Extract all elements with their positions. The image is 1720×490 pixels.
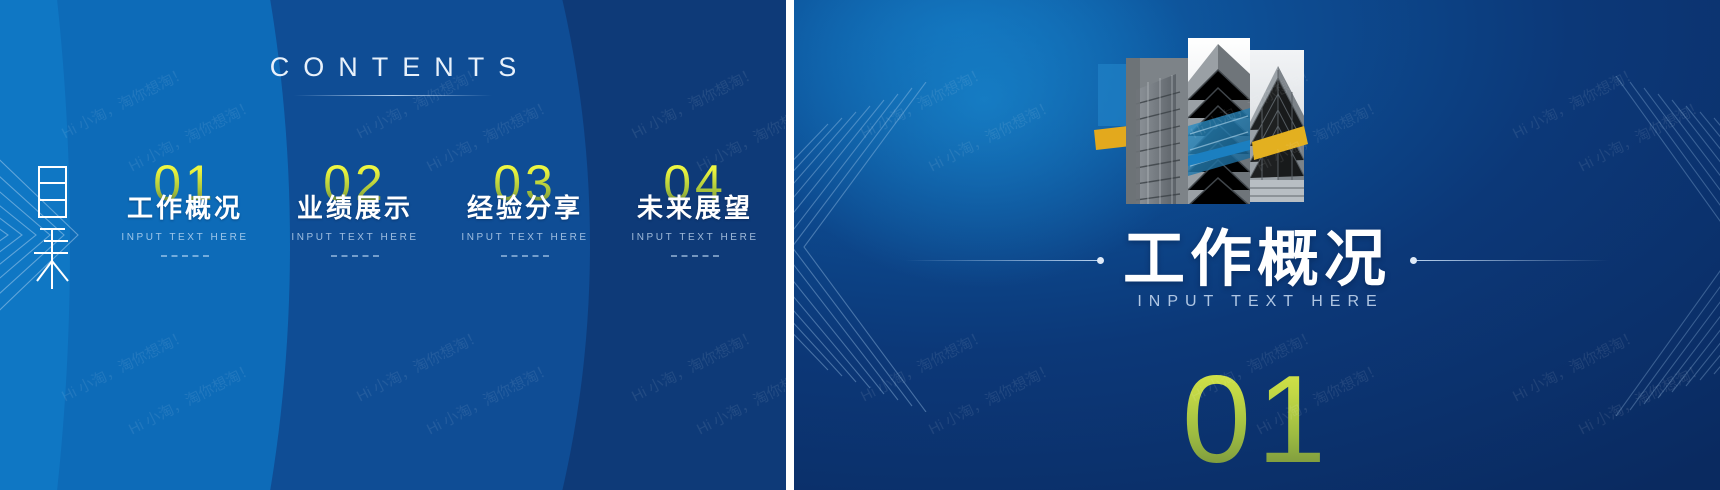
item-title: 业绩展示 (270, 188, 440, 225)
section-divider-slide: 工作概况 INPUT TEXT HERE 01 Hi 小淘，淘你想淘！Hi 小淘… (794, 0, 1720, 490)
item-dashed-rule (161, 255, 209, 257)
architecture-photo-collage (1090, 30, 1330, 212)
item-subtitle: INPUT TEXT HERE (270, 232, 440, 243)
title-rule-left (905, 260, 1101, 261)
list-item[interactable]: 04 未来展望 INPUT TEXT HERE (610, 160, 780, 257)
slide-pair-canvas: CONTENTS 01 工作概况 INPUT TEXT HERE 02 业绩展示… (0, 0, 1720, 490)
item-dashed-rule (501, 255, 549, 257)
item-title: 经验分享 (440, 188, 610, 225)
title-underline-rule (294, 95, 492, 96)
section-number: 01 (794, 358, 1720, 482)
page-title: CONTENTS (0, 52, 786, 83)
item-dashed-rule (671, 255, 719, 257)
item-title: 未来展望 (610, 188, 780, 225)
item-subtitle: INPUT TEXT HERE (100, 232, 270, 243)
item-subtitle: INPUT TEXT HERE (610, 232, 780, 243)
list-item[interactable]: 02 业绩展示 INPUT TEXT HERE (270, 160, 440, 257)
item-subtitle: INPUT TEXT HERE (440, 232, 610, 243)
contents-list: 01 工作概况 INPUT TEXT HERE 02 业绩展示 INPUT TE… (100, 160, 780, 310)
side-label-mulu (28, 163, 76, 289)
title-rule-right (1413, 260, 1609, 261)
contents-slide: CONTENTS 01 工作概况 INPUT TEXT HERE 02 业绩展示… (0, 0, 786, 490)
section-subtitle: INPUT TEXT HERE (794, 293, 1720, 311)
slide-divider (786, 0, 794, 490)
list-item[interactable]: 01 工作概况 INPUT TEXT HERE (100, 160, 270, 257)
section-title: 工作概况 (1101, 229, 1413, 291)
item-title: 工作概况 (100, 188, 270, 225)
list-item[interactable]: 03 经验分享 INPUT TEXT HERE (440, 160, 610, 257)
item-dashed-rule (331, 255, 379, 257)
